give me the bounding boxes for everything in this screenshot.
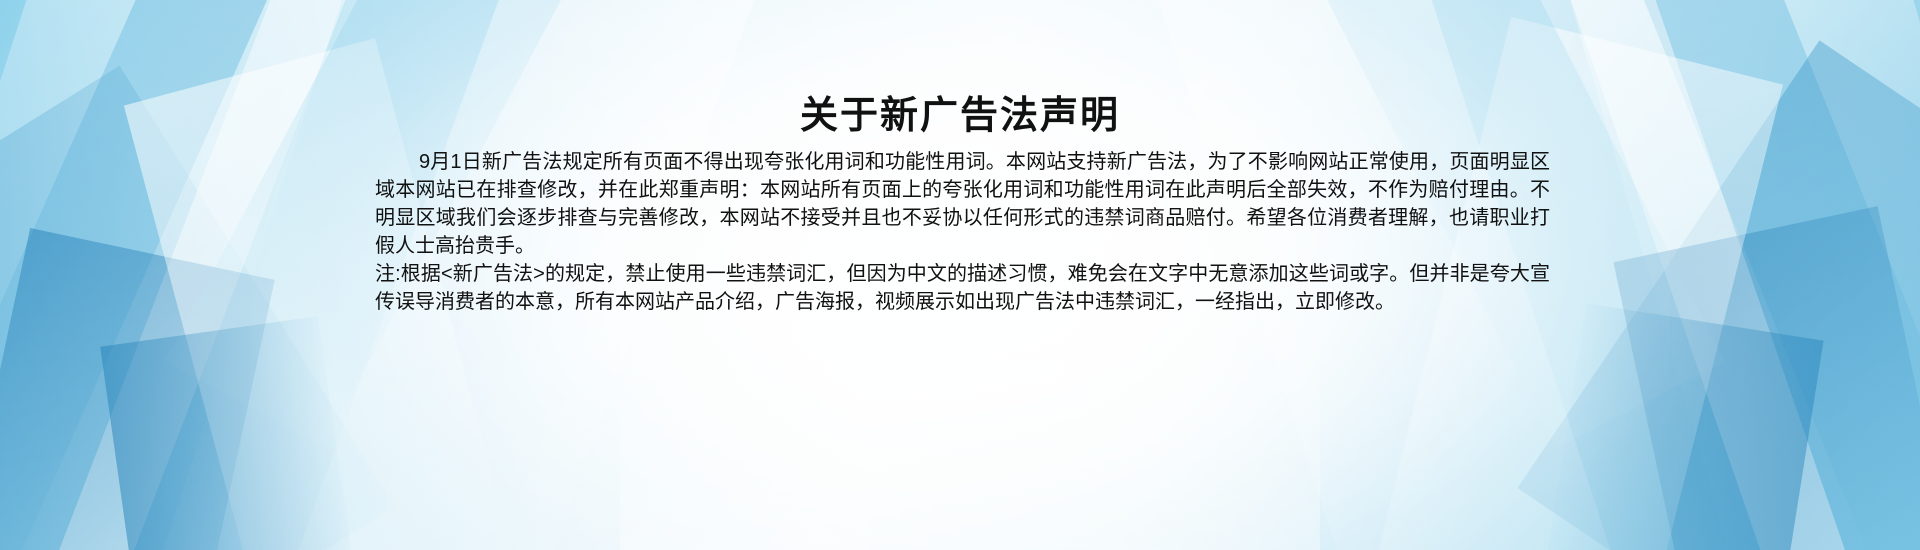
statement-content: 关于新广告法声明 9月1日新广告法规定所有页面不得出现夸张化用词和功能性用词。本… <box>0 0 1920 550</box>
statement-body: 9月1日新广告法规定所有页面不得出现夸张化用词和功能性用词。本网站支持新广告法，… <box>375 148 1550 316</box>
statement-paragraph-1: 9月1日新广告法规定所有页面不得出现夸张化用词和功能性用词。本网站支持新广告法，… <box>375 148 1550 260</box>
statement-paragraph-2: 注:根据<新广告法>的规定，禁止使用一些违禁词汇，但因为中文的描述习惯，难免会在… <box>375 260 1550 316</box>
page-title: 关于新广告法声明 <box>0 84 1920 139</box>
advertising-law-statement-banner: 关于新广告法声明 9月1日新广告法规定所有页面不得出现夸张化用词和功能性用词。本… <box>0 0 1920 550</box>
